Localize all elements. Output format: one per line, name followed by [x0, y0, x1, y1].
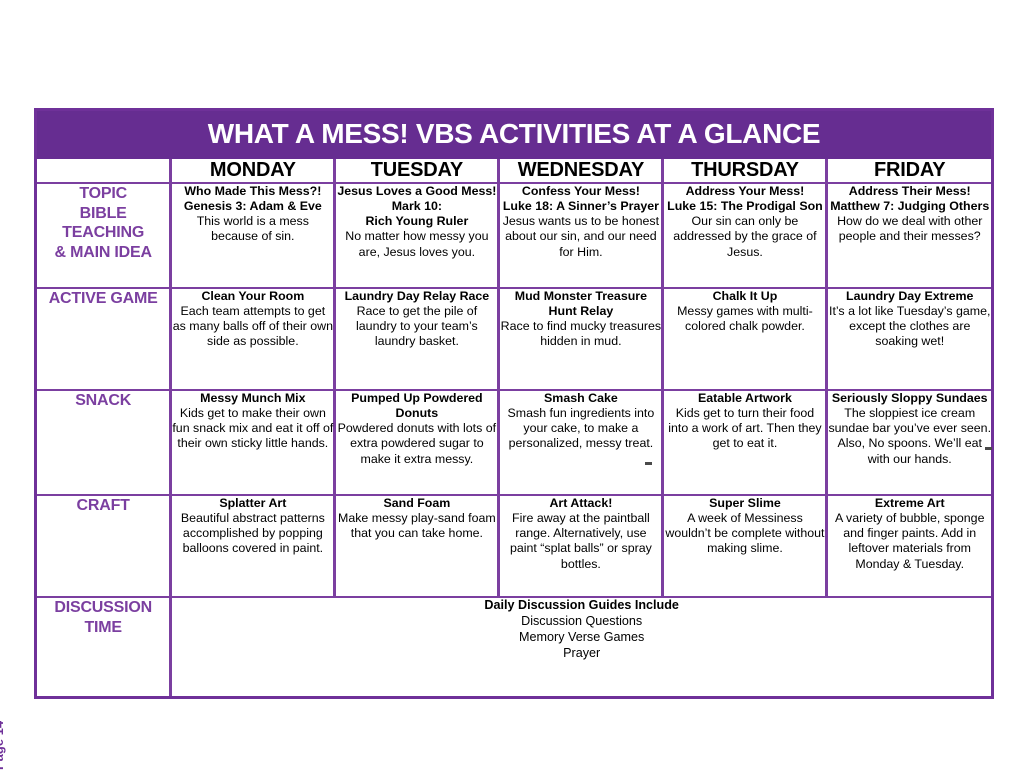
table-row-craft: CRAFT Splatter Art Beautiful abstract pa… [37, 495, 991, 597]
scan-artifact-dash [645, 462, 652, 465]
cell-title-line: Pumped Up Powdered Donuts [336, 391, 497, 421]
cell-body: Our sin can only be addressed by the gra… [664, 214, 825, 259]
cell-game-wednesday: Mud Monster Treasure Hunt Relay Race to … [499, 288, 663, 390]
cell-title-line: Luke 18: A Sinner’s Prayer [500, 199, 661, 214]
row-label-craft: CRAFT [37, 495, 171, 597]
cell-craft-thursday: Super Slime A week of Messiness wouldn’t… [663, 495, 827, 597]
cell-title-line: Eatable Artwork [664, 391, 825, 406]
row-label-line: DISCUSSION [54, 599, 152, 616]
cell-body: Kids get to make their own fun snack mix… [172, 406, 333, 451]
cell-snack-thursday: Eatable Artwork Kids get to turn their f… [663, 390, 827, 495]
cell-title-line: Super Slime [664, 496, 825, 511]
row-label-line: TEACHING [62, 224, 144, 241]
day-header-row: MONDAY TUESDAY WEDNESDAY THURSDAY FRIDAY [37, 159, 991, 183]
cell-title-line: Rich Young Ruler [336, 214, 497, 229]
cell-craft-monday: Splatter Art Beautiful abstract patterns… [171, 495, 335, 597]
cell-body: Jesus wants us to be honest about our si… [500, 214, 661, 259]
corner-blank-cell [37, 159, 171, 183]
table-row-active-game: ACTIVE GAME Clean Your Room Each team at… [37, 288, 991, 390]
day-header-monday: MONDAY [171, 159, 335, 183]
cell-body: Kids get to turn their food into a work … [664, 406, 825, 451]
cell-body: A week of Messiness wouldn’t be complete… [664, 511, 825, 556]
discussion-item: Memory Verse Games [172, 630, 991, 646]
discussion-item: Prayer [172, 646, 991, 662]
cell-topic-monday: Who Made This Mess?! Genesis 3: Adam & E… [171, 183, 335, 288]
page-number-label: Page 14 [0, 721, 6, 770]
cell-body: This world is a mess because of sin. [172, 214, 333, 244]
cell-game-monday: Clean Your Room Each team attempts to ge… [171, 288, 335, 390]
cell-title-line: Sand Foam [336, 496, 497, 511]
cell-title-line: Luke 15: The Prodigal Son [664, 199, 825, 214]
row-label-line: CRAFT [77, 497, 130, 514]
row-label-topic: TOPIC BIBLE TEACHING & MAIN IDEA [37, 183, 171, 288]
cell-body: Make messy play-sand foam that you can t… [336, 511, 497, 541]
cell-body: No matter how messy you are, Jesus loves… [336, 229, 497, 259]
cell-topic-friday: Address Their Mess! Matthew 7: Judging O… [827, 183, 991, 288]
cell-title-line: Splatter Art [172, 496, 333, 511]
cell-title-line: Messy Munch Mix [172, 391, 333, 406]
cell-topic-wednesday: Confess Your Mess! Luke 18: A Sinner’s P… [499, 183, 663, 288]
cell-craft-wednesday: Art Attack! Fire away at the paintball r… [499, 495, 663, 597]
row-label-snack: SNACK [37, 390, 171, 495]
cell-title-line: Jesus Loves a Good Mess! [336, 184, 497, 199]
cell-title-line: Confess Your Mess! [500, 184, 661, 199]
cell-body: Beautiful abstract patterns accomplished… [172, 511, 333, 556]
cell-body: Smash fun ingredients into your cake, to… [500, 406, 661, 451]
day-header-friday: FRIDAY [827, 159, 991, 183]
cell-discussion-guides: Daily Discussion Guides Include Discussi… [171, 597, 991, 696]
cell-title-line: Chalk It Up [664, 289, 825, 304]
table-row-topic: TOPIC BIBLE TEACHING & MAIN IDEA Who Mad… [37, 183, 991, 288]
cell-title-line: Extreme Art [828, 496, 991, 511]
cell-craft-friday: Extreme Art A variety of bubble, sponge … [827, 495, 991, 597]
cell-body: A variety of bubble, sponge and finger p… [828, 511, 991, 572]
row-label-line: TIME [84, 619, 121, 636]
activities-table: WHAT A MESS! VBS ACTIVITIES AT A GLANCE … [34, 108, 994, 699]
page-title: WHAT A MESS! VBS ACTIVITIES AT A GLANCE [37, 111, 991, 159]
cell-title-line: Genesis 3: Adam & Eve [172, 199, 333, 214]
row-label-line: BIBLE [80, 205, 127, 222]
cell-game-thursday: Chalk It Up Messy games with multi-color… [663, 288, 827, 390]
page-number: Page 14 [6, 690, 30, 770]
cell-title-line: Seriously Sloppy Sundaes [828, 391, 991, 406]
row-label-line: SNACK [75, 392, 131, 409]
day-header-tuesday: TUESDAY [335, 159, 499, 183]
cell-body: Each team attempts to get as many balls … [172, 304, 333, 349]
row-label-line: ACTIVE GAME [49, 290, 158, 307]
cell-snack-tuesday: Pumped Up Powdered Donuts Powdered donut… [335, 390, 499, 495]
cell-title-line: Laundry Day Extreme [828, 289, 991, 304]
cell-snack-friday: Seriously Sloppy Sundaes The sloppiest i… [827, 390, 991, 495]
cell-title-line: Laundry Day Relay Race [336, 289, 497, 304]
cell-topic-thursday: Address Your Mess! Luke 15: The Prodigal… [663, 183, 827, 288]
table-row-discussion-time: DISCUSSION TIME Daily Discussion Guides … [37, 597, 991, 696]
table-row-snack: SNACK Messy Munch Mix Kids get to make t… [37, 390, 991, 495]
row-label-active-game: ACTIVE GAME [37, 288, 171, 390]
cell-snack-wednesday: Smash Cake Smash fun ingredients into yo… [499, 390, 663, 495]
cell-title-line: Mark 10: [336, 199, 497, 214]
discussion-item: Discussion Questions [172, 614, 991, 630]
cell-body: The sloppiest ice cream sundae bar you’v… [828, 406, 991, 467]
cell-body: It’s a lot like Tuesday’s game, except t… [828, 304, 991, 349]
cell-body: Race to find mucky treasures hidden in m… [500, 319, 661, 349]
cell-body: How do we deal with other people and the… [828, 214, 991, 244]
day-header-thursday: THURSDAY [663, 159, 827, 183]
row-label-line: & MAIN IDEA [54, 244, 151, 261]
scan-artifact-dash [985, 447, 992, 450]
cell-title-line: Clean Your Room [172, 289, 333, 304]
discussion-title: Daily Discussion Guides Include [172, 598, 991, 614]
cell-title-line: Who Made This Mess?! [172, 184, 333, 199]
row-label-discussion-time: DISCUSSION TIME [37, 597, 171, 696]
cell-topic-tuesday: Jesus Loves a Good Mess! Mark 10: Rich Y… [335, 183, 499, 288]
cell-snack-monday: Messy Munch Mix Kids get to make their o… [171, 390, 335, 495]
cell-game-friday: Laundry Day Extreme It’s a lot like Tues… [827, 288, 991, 390]
day-header-wednesday: WEDNESDAY [499, 159, 663, 183]
row-label-line: TOPIC [79, 185, 127, 202]
cell-title-line: Mud Monster Treasure Hunt Relay [500, 289, 661, 319]
cell-title-line: Art Attack! [500, 496, 661, 511]
cell-title-line: Address Their Mess! [828, 184, 991, 199]
cell-body: Messy games with multi-colored chalk pow… [664, 304, 825, 334]
cell-title-line: Address Your Mess! [664, 184, 825, 199]
schedule-grid: MONDAY TUESDAY WEDNESDAY THURSDAY FRIDAY… [37, 159, 991, 696]
cell-game-tuesday: Laundry Day Relay Race Race to get the p… [335, 288, 499, 390]
cell-title-line: Matthew 7: Judging Others [828, 199, 991, 214]
page-canvas: Page 14 WHAT A MESS! VBS ACTIVITIES AT A… [0, 0, 1011, 784]
cell-body: Fire away at the paintball range. Altern… [500, 511, 661, 572]
cell-craft-tuesday: Sand Foam Make messy play-sand foam that… [335, 495, 499, 597]
cell-title-line: Smash Cake [500, 391, 661, 406]
cell-body: Race to get the pile of laundry to your … [336, 304, 497, 349]
cell-body: Powdered donuts with lots of extra powde… [336, 421, 497, 466]
